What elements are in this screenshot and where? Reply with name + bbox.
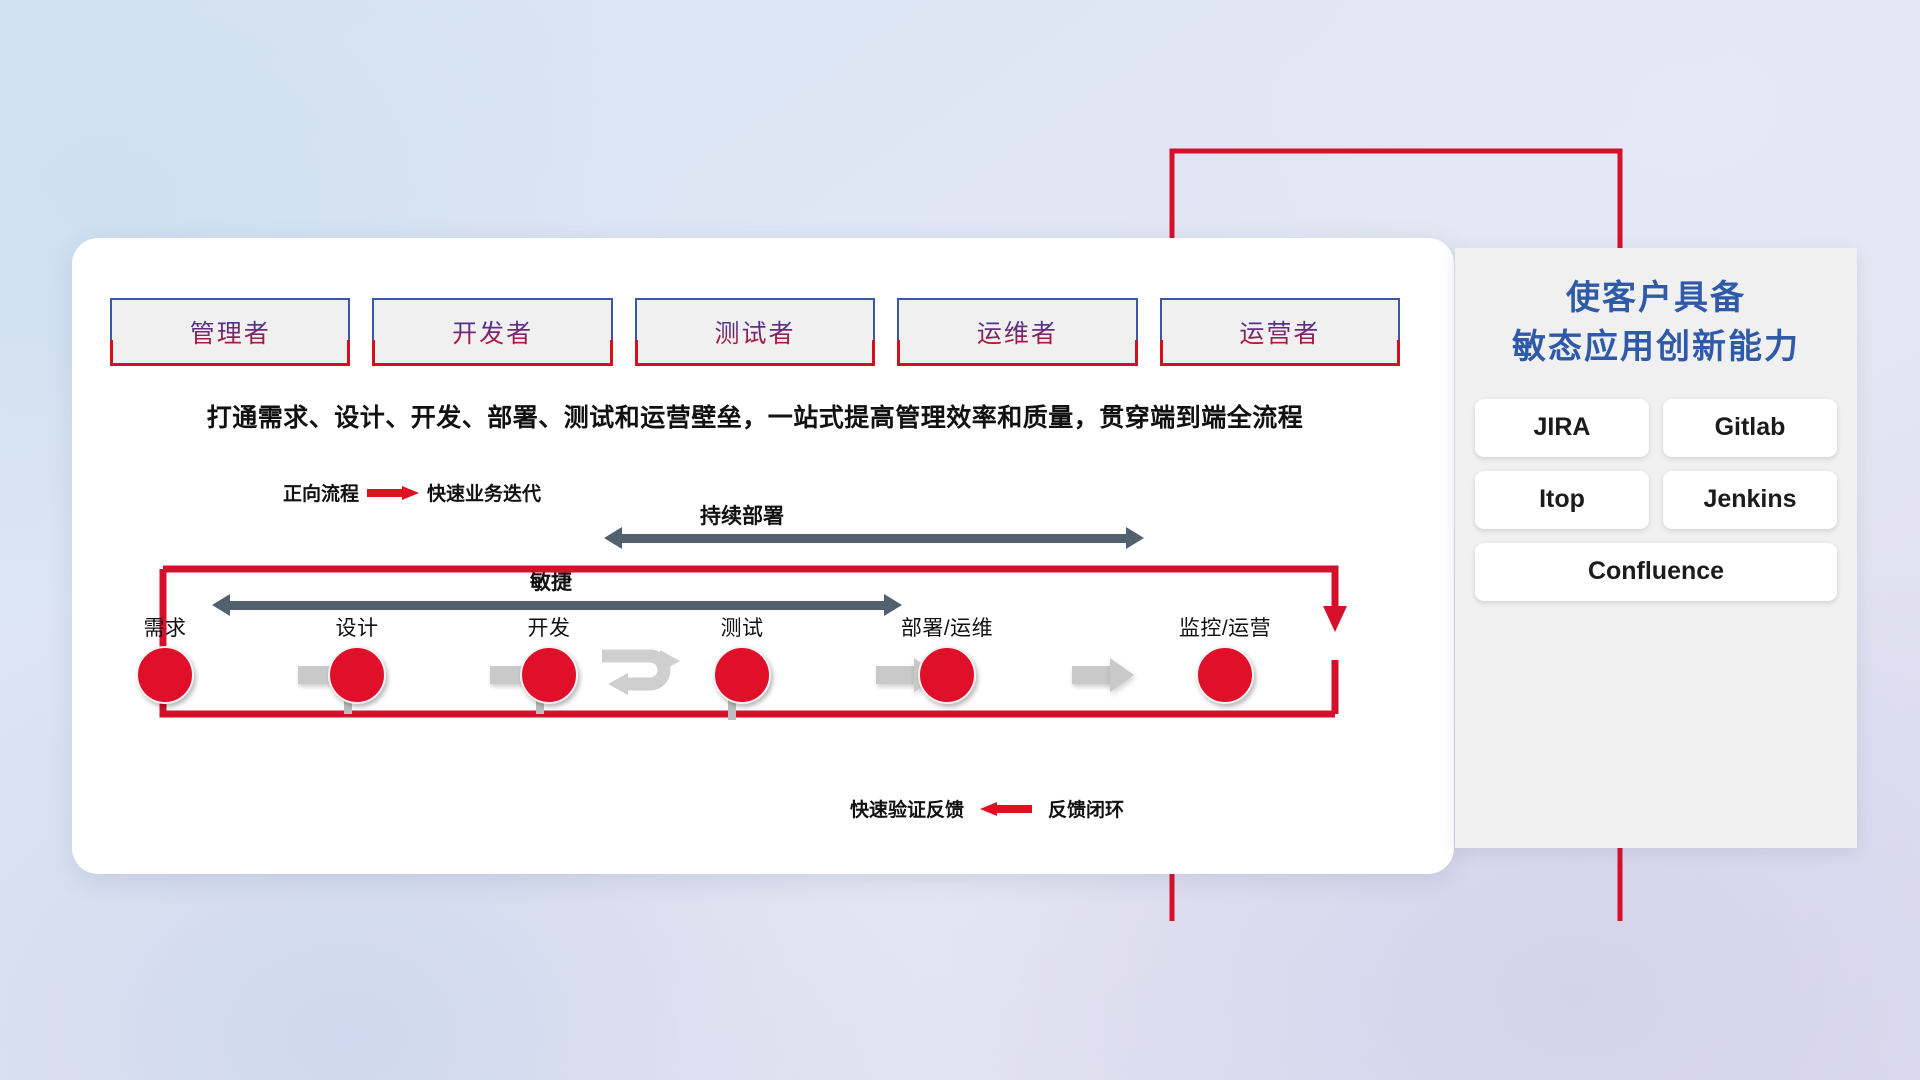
pipeline-stage[interactable]: 部署/运维: [877, 612, 1017, 704]
tool-chip-itop[interactable]: Itop: [1475, 471, 1649, 529]
red-arrow-left-icon: [980, 802, 1032, 815]
pipeline-stage[interactable]: 监控/运营: [1155, 612, 1295, 704]
role-box[interactable]: 运营者: [1160, 298, 1400, 366]
legend-forward-flow: 正向流程 快速业务迭代: [283, 479, 541, 506]
agile-label: 敏捷: [530, 566, 572, 596]
pipeline-stages: 需求 设计 开发 测试 部署/运维 监控/运营: [110, 612, 1410, 722]
stage-label: 开发: [479, 612, 619, 642]
stage-label: 测试: [672, 612, 812, 642]
tagline-text: 打通需求、设计、开发、部署、测试和运营壁垒，一站式提高管理效率和质量，贯穿端到端…: [110, 398, 1400, 434]
stage-dot: [328, 646, 386, 704]
tool-chip-confluence[interactable]: Confluence: [1475, 543, 1837, 601]
tool-chip-gitlab[interactable]: Gitlab: [1663, 399, 1837, 457]
role-box[interactable]: 开发者: [372, 298, 612, 366]
role-label: 开发者: [452, 314, 533, 350]
stage-dot: [713, 646, 771, 704]
role-box[interactable]: 测试者: [635, 298, 875, 366]
role-box[interactable]: 运维者: [897, 298, 1137, 366]
tools-panel: 使客户具备 敏态应用创新能力 JIRA Gitlab Itop Jenkins …: [1455, 248, 1857, 848]
flow-chevron-icon: [1072, 658, 1134, 692]
pipeline-stage[interactable]: 设计: [287, 612, 427, 704]
continuous-delivery-label: 持续部署: [700, 500, 784, 530]
role-label: 运营者: [1239, 314, 1320, 350]
stage-dot: [520, 646, 578, 704]
role-label: 管理者: [190, 314, 271, 350]
legend-feedback-source-label: 反馈闭环: [1048, 795, 1124, 822]
red-arrow-right-icon: [367, 486, 419, 499]
role-label: 测试者: [715, 314, 796, 350]
role-label: 运维者: [977, 314, 1058, 350]
role-box[interactable]: 管理者: [110, 298, 350, 366]
pipeline-stage[interactable]: 需求: [95, 612, 235, 704]
legend-feedback-loop: 快速验证反馈 反馈闭环: [850, 795, 1124, 822]
stage-label: 部署/运维: [877, 612, 1017, 642]
role-box-row: 管理者 开发者 测试者 运维者 运营者: [110, 298, 1400, 366]
pipeline-stage[interactable]: 测试: [672, 612, 812, 704]
panel-title-line1: 使客户具备: [1475, 274, 1837, 323]
continuous-delivery-arrow: [604, 527, 1144, 549]
stage-dot: [1196, 646, 1254, 704]
tool-chip-list: JIRA Gitlab Itop Jenkins Confluence: [1475, 399, 1837, 601]
tool-chip-jenkins[interactable]: Jenkins: [1663, 471, 1837, 529]
stage-dot: [918, 646, 976, 704]
panel-title-line2: 敏态应用创新能力: [1475, 323, 1837, 372]
legend-forward-target-label: 快速业务迭代: [427, 479, 541, 506]
tool-chip-jira[interactable]: JIRA: [1475, 399, 1649, 457]
stage-dot: [136, 646, 194, 704]
legend-forward-source-label: 正向流程: [283, 479, 359, 506]
stage-label: 需求: [95, 612, 235, 642]
legend-feedback-target-label: 快速验证反馈: [850, 795, 964, 822]
stage-label: 监控/运营: [1155, 612, 1295, 642]
stage-label: 设计: [287, 612, 427, 642]
